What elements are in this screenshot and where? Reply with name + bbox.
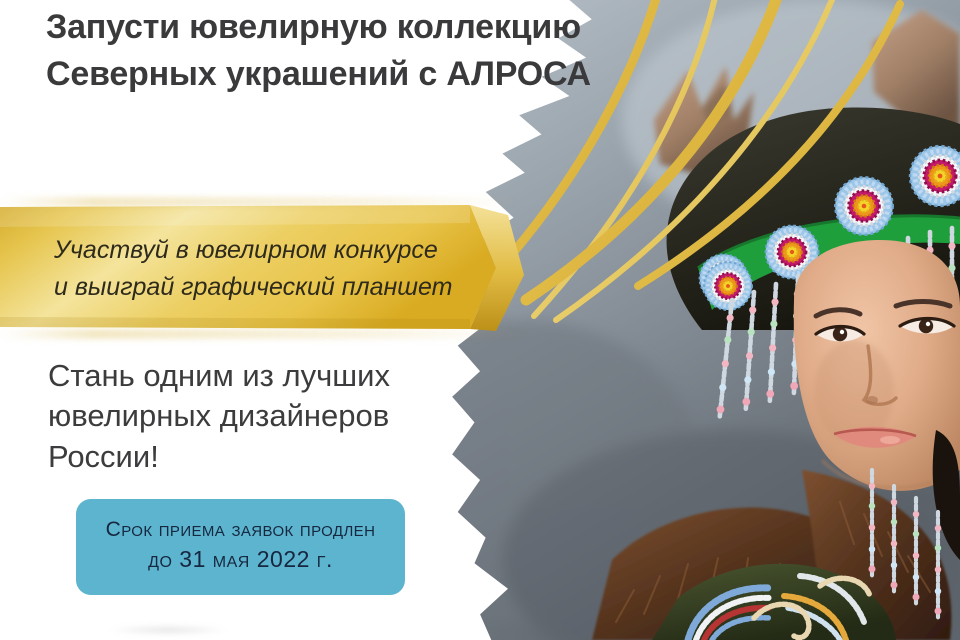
deadline-line-1: Срок приема заявок продлен	[106, 516, 376, 544]
ribbon-glow-top	[0, 197, 524, 207]
deadline-line-2: до 31 мая 2022 г.	[148, 544, 333, 575]
ribbon-glow-bottom	[0, 329, 524, 339]
promo-banner: Запусти ювелирную коллекцию Северных укр…	[0, 0, 960, 640]
body-copy: Стань одним из лучших ювелирных дизайнер…	[48, 356, 468, 477]
ribbon-subtitle: Участвуй в ювелирном конкурсе и выиграй …	[54, 232, 494, 306]
deadline-badge: Срок приема заявок продлен до 31 мая 202…	[76, 499, 405, 595]
bottom-smudge	[108, 624, 228, 636]
page-title: Запусти ювелирную коллекцию Северных укр…	[46, 4, 686, 98]
